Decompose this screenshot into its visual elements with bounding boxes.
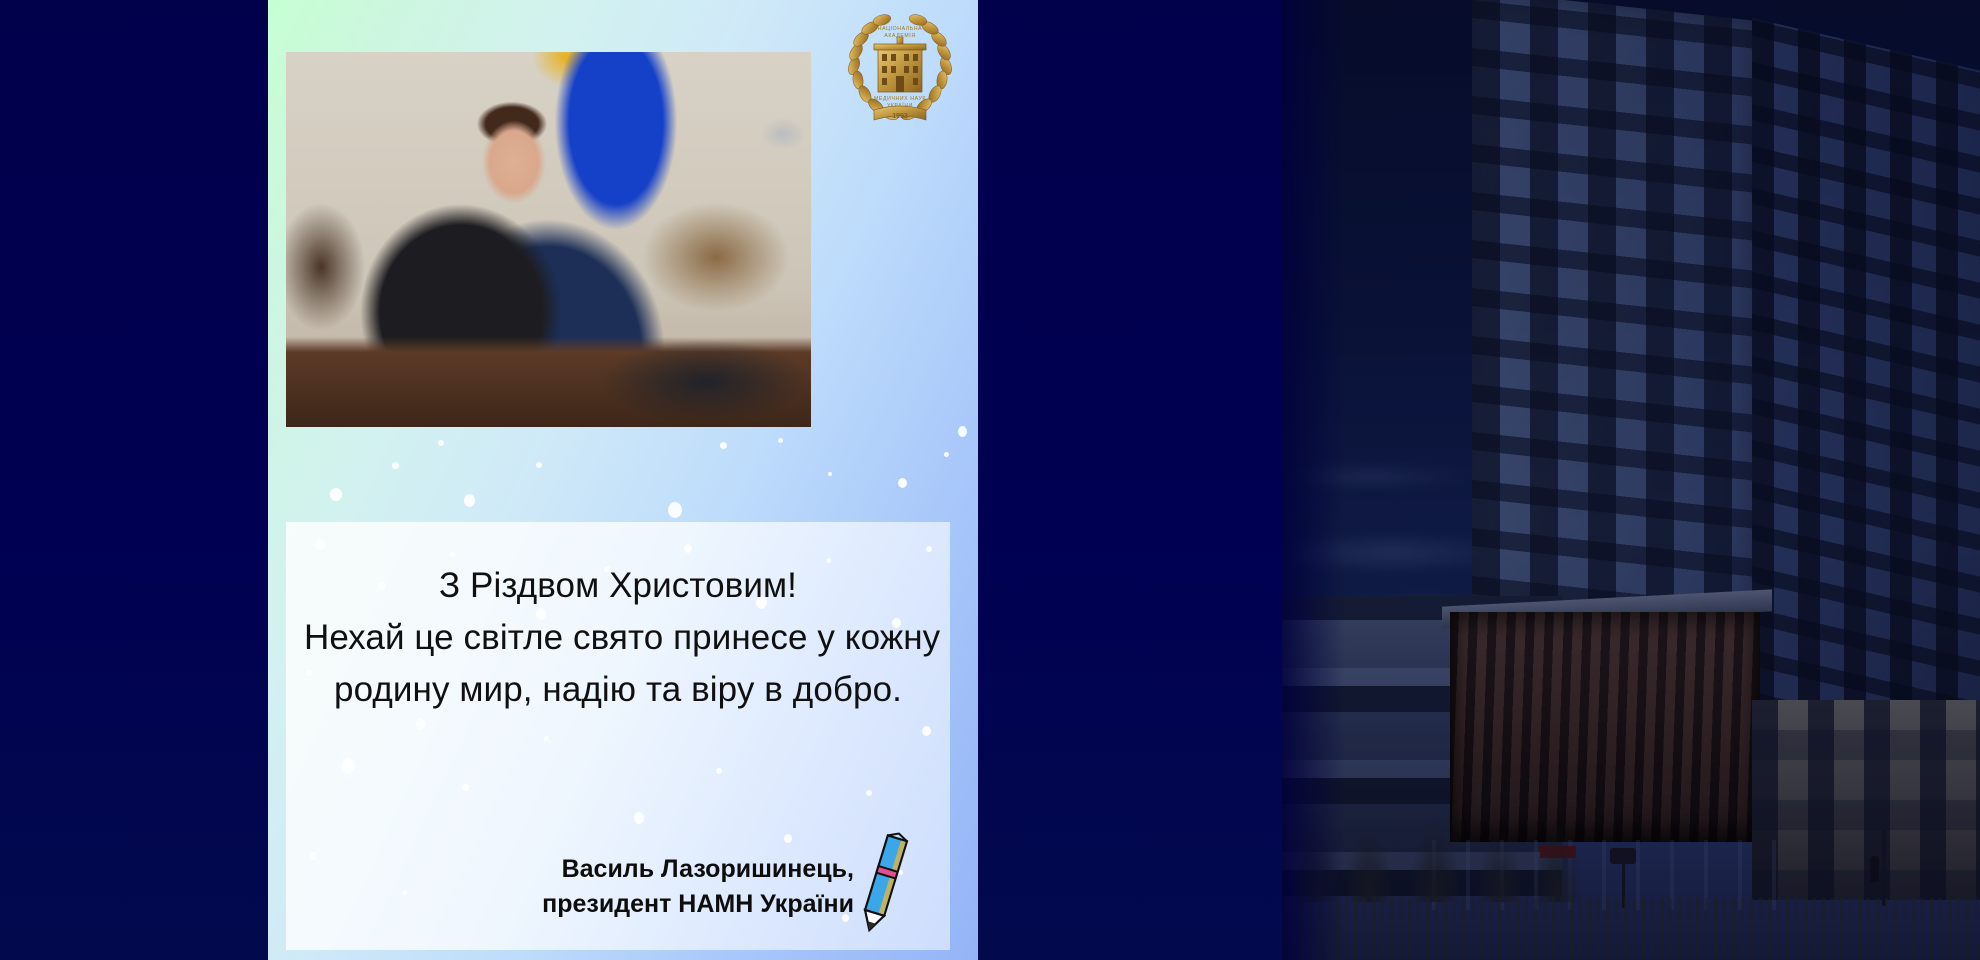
portrait-image xyxy=(286,52,811,427)
president-portrait xyxy=(286,52,811,427)
signature-title: президент НАМН України xyxy=(542,887,854,922)
nams-headquarters-building-photo xyxy=(1282,0,1980,960)
emblem-top-line-1: НАЦІОНАЛЬНА xyxy=(878,26,922,32)
greeting-line-3: родину мир, надію та віру в добро. xyxy=(304,664,932,716)
greeting-card: З Різдвом Христовим! Нехай це світле свя… xyxy=(286,522,950,950)
emblem-bottom-line-2: УКРАЇНИ xyxy=(887,102,913,109)
signature-block: Василь Лазоришинець, президент НАМН Укра… xyxy=(542,852,854,922)
greeting-line-2: Нехай це світле свято принесе у кожну xyxy=(304,612,932,664)
screenshot-stage: 1993 НАЦІОНАЛЬНА АКАДЕМІЯ МЕДИЧНИХ НАУК … xyxy=(0,0,1980,960)
greeting-text: З Різдвом Христовим! Нехай це світле свя… xyxy=(286,522,950,716)
signature-name: Василь Лазоришинець, xyxy=(542,852,854,887)
photo-left-edge-fade xyxy=(1282,0,1980,960)
blue-pencil-icon xyxy=(852,828,914,936)
nams-ukraine-emblem: 1993 НАЦІОНАЛЬНА АКАДЕМІЯ МЕДИЧНИХ НАУК … xyxy=(840,6,960,134)
emblem-bottom-line-1: МЕДИЧНИХ НАУК xyxy=(874,96,926,102)
greeting-line-1: З Різдвом Христовим! xyxy=(304,560,932,612)
emblem-top-line-2: АКАДЕМІЯ xyxy=(884,33,915,39)
greeting-slide: 1993 НАЦІОНАЛЬНА АКАДЕМІЯ МЕДИЧНИХ НАУК … xyxy=(268,0,978,960)
emblem-ribbon-year: 1993 xyxy=(892,113,908,120)
